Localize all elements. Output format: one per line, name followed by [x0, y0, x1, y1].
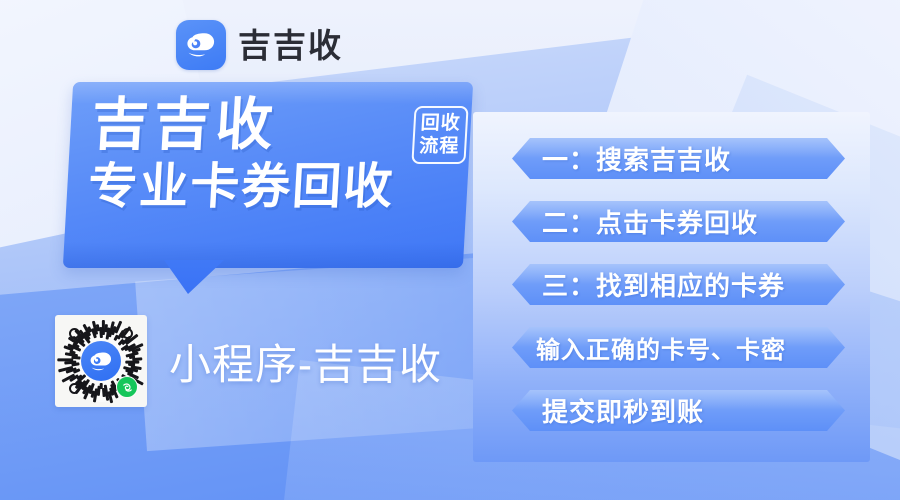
- banner-title-line-1: 吉吉收: [90, 96, 443, 156]
- step-label: 三：找到相应的卡券: [512, 266, 785, 303]
- banner-title-line-2: 专业卡券回收: [87, 160, 440, 215]
- step-label: 输入正确的卡号、卡密: [512, 330, 786, 365]
- miniprogram-label: 小程序-吉吉收: [169, 331, 442, 392]
- qr-locator-dot-bl: [69, 383, 80, 394]
- poster-canvas: 吉吉收 吉吉收 专业卡券回收 回收 流程: [0, 0, 900, 500]
- steps-panel: 一：搜索吉吉收二：点击卡券回收三：找到相应的卡券输入正确的卡号、卡密提交即秒到账: [473, 112, 870, 462]
- cloud-swirl-logo-icon: [176, 20, 226, 70]
- banner-speech-tail: [164, 260, 224, 294]
- step-label: 二：点击卡券回收: [512, 203, 758, 240]
- step-bar-1[interactable]: 一：搜索吉吉收: [512, 138, 845, 179]
- banner-headline: 吉吉收 专业卡券回收: [87, 96, 444, 215]
- step-bar-5[interactable]: 提交即秒到账: [512, 390, 845, 431]
- wechat-miniprogram-qr-icon[interactable]: [55, 315, 147, 407]
- badge-line-1: 回收: [420, 112, 461, 135]
- qr-locator-dot-tl: [69, 328, 80, 339]
- step-bar-2[interactable]: 二：点击卡券回收: [512, 201, 845, 242]
- miniprogram-row: 小程序-吉吉收: [55, 315, 442, 407]
- brand-name: 吉吉收: [238, 29, 343, 62]
- brand-logo-lockup: 吉吉收: [176, 16, 343, 74]
- step-bar-3[interactable]: 三：找到相应的卡券: [512, 264, 845, 305]
- cloud-swirl-logo-icon: [81, 341, 121, 381]
- main-banner: 吉吉收 专业卡券回收 回收 流程: [60, 82, 480, 297]
- step-label: 提交即秒到账: [512, 392, 704, 429]
- step-label: 一：搜索吉吉收: [512, 140, 731, 177]
- badge-line-2: 流程: [419, 135, 460, 158]
- recycling-process-badge: 回收 流程: [411, 106, 468, 164]
- steps-list: 一：搜索吉吉收二：点击卡券回收三：找到相应的卡券输入正确的卡号、卡密提交即秒到账: [512, 138, 845, 431]
- banner-bottom-shadow: [63, 242, 464, 268]
- qr-dash: [57, 358, 73, 361]
- wechat-miniprogram-icon: [116, 376, 138, 398]
- qr-locator-dot-tr: [122, 328, 133, 339]
- step-bar-4[interactable]: 输入正确的卡号、卡密: [512, 327, 845, 368]
